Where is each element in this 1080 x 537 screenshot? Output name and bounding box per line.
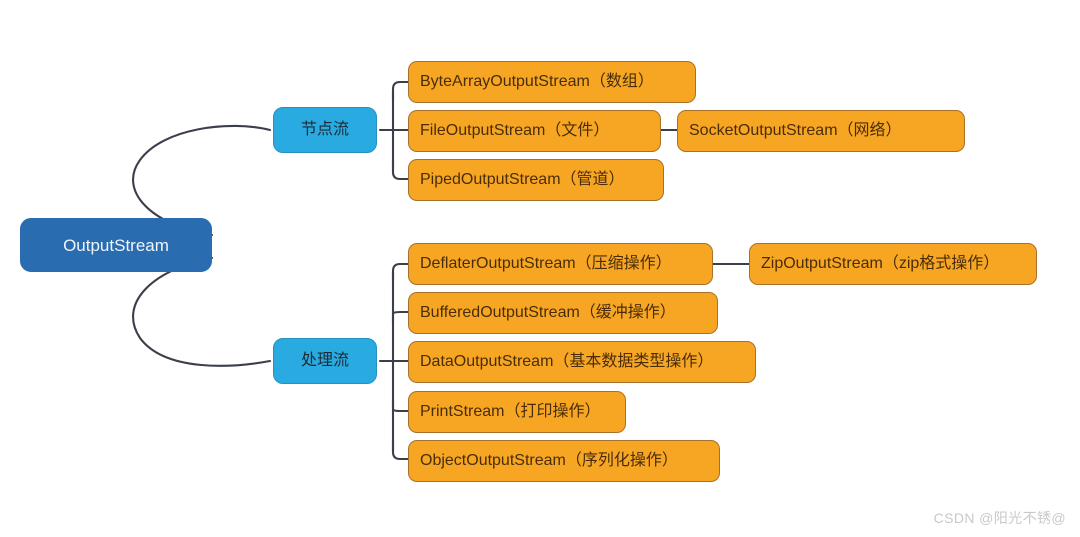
node-leaf-label: ZipOutputStream（zip格式操作） xyxy=(761,256,999,272)
edge-root-to-process-stream xyxy=(133,258,270,366)
node-leaf-label: ByteArrayOutputStream（数组） xyxy=(420,74,654,90)
node-root-outputstream[interactable]: OutputStream xyxy=(20,218,212,272)
node-leaf-zipoutputstream[interactable]: ZipOutputStream（zip格式操作） xyxy=(749,243,1037,285)
node-leaf-label: PrintStream（打印操作） xyxy=(420,404,600,420)
node-leaf-deflateroutputstream[interactable]: DeflaterOutputStream（压缩操作） xyxy=(408,243,713,285)
node-leaf-label: PipedOutputStream（管道） xyxy=(420,172,625,188)
node-branch-label: 处理流 xyxy=(301,353,349,369)
node-leaf-socketoutputstream[interactable]: SocketOutputStream（网络） xyxy=(677,110,965,152)
node-leaf-dataoutputstream[interactable]: DataOutputStream（基本数据类型操作） xyxy=(408,341,756,383)
node-leaf-label: SocketOutputStream（网络） xyxy=(689,123,902,139)
watermark-text: CSDN @阳光不锈@ xyxy=(934,508,1066,528)
node-leaf-label: BufferedOutputStream（缓冲操作） xyxy=(420,305,676,321)
node-leaf-label: DataOutputStream（基本数据类型操作） xyxy=(420,354,713,370)
node-leaf-pipedoutputstream[interactable]: PipedOutputStream（管道） xyxy=(408,159,664,201)
node-branch-process-stream[interactable]: 处理流 xyxy=(273,338,377,384)
node-branch-node-stream[interactable]: 节点流 xyxy=(273,107,377,153)
node-leaf-label: DeflaterOutputStream（压缩操作） xyxy=(420,256,672,272)
node-leaf-objectoutputstream[interactable]: ObjectOutputStream（序列化操作） xyxy=(408,440,720,482)
mindmap-canvas: OutputStream 节点流 处理流 ByteArrayOutputStre… xyxy=(0,0,1080,537)
node-root-label: OutputStream xyxy=(63,237,169,254)
node-leaf-bytearrayoutputstream[interactable]: ByteArrayOutputStream（数组） xyxy=(408,61,696,103)
node-leaf-bufferedoutputstream[interactable]: BufferedOutputStream（缓冲操作） xyxy=(408,292,718,334)
node-leaf-fileoutputstream[interactable]: FileOutputStream（文件） xyxy=(408,110,661,152)
node-leaf-label: FileOutputStream（文件） xyxy=(420,123,609,139)
node-leaf-printstream[interactable]: PrintStream（打印操作） xyxy=(408,391,626,433)
node-branch-label: 节点流 xyxy=(301,122,349,138)
node-leaf-label: ObjectOutputStream（序列化操作） xyxy=(420,453,678,469)
